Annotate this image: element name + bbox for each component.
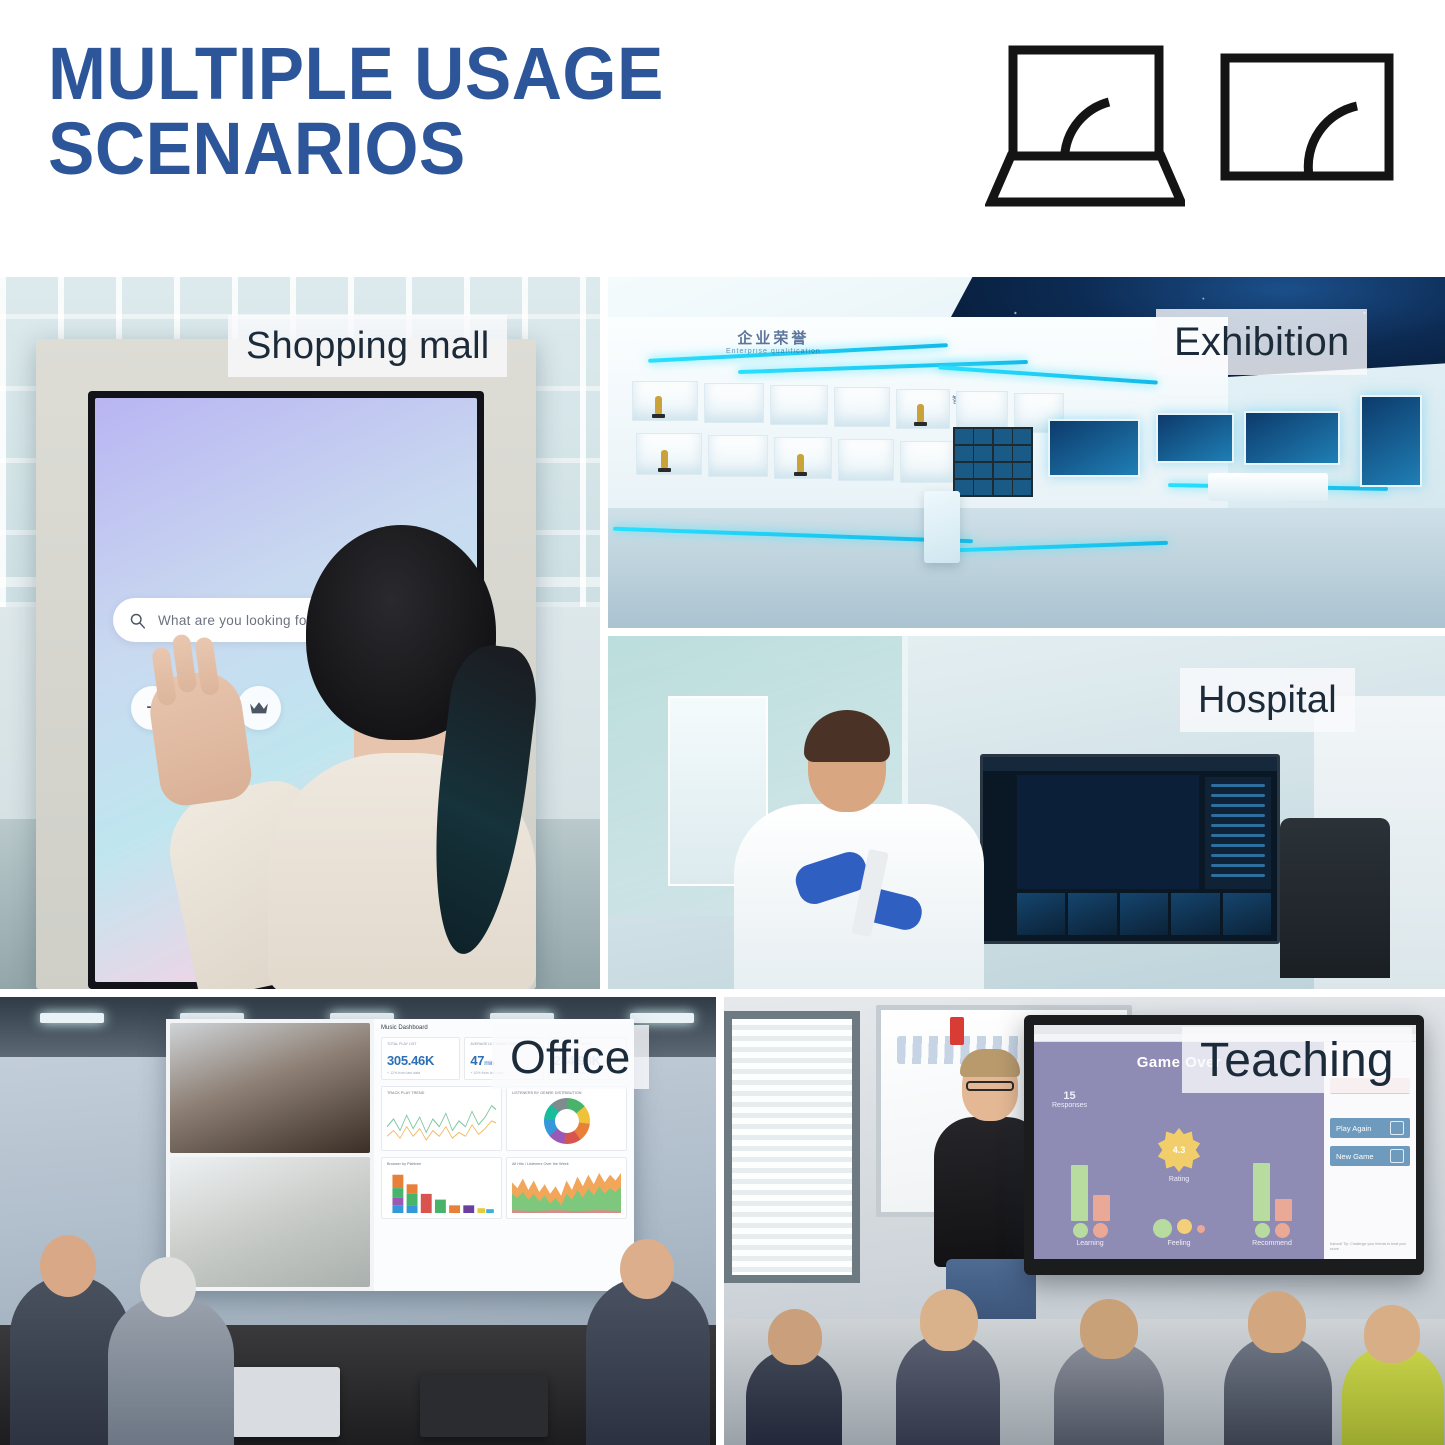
chart-title: Browser by Platform [387,1162,496,1166]
new-game-button[interactable]: New Game [1330,1146,1410,1166]
metric-label: Feeling [1141,1240,1217,1247]
teacher-hair [960,1049,1020,1077]
metric-bars [1052,1163,1128,1221]
magnifier-icon [129,612,146,629]
exhibition-video-wall[interactable] [953,427,1033,497]
laptop-icon [985,42,1185,212]
scenario-panel-shopping-mall[interactable]: What are you looking for? + [0,277,600,989]
display-niche [834,387,890,427]
exhibition-wall-sign: 企业荣誉 Enterprise qualification [726,327,821,355]
chart-title: All Hits / Listeners Over the Week [512,1162,621,1166]
video-tile-presenter[interactable] [170,1023,370,1153]
play-again-label: Play Again [1336,1124,1371,1133]
caption-teaching: Teaching [1182,1027,1412,1093]
smile-icon [1153,1219,1172,1238]
chart-card-bar[interactable]: Browser by Platform [381,1157,502,1219]
chart-card-donut[interactable]: LISTENERS BY GENRE DISTRIBUTION [506,1086,627,1151]
caption-hospital: Hospital [1180,668,1355,732]
video-tile-group[interactable] [170,1157,370,1287]
responses-count: 15 [1052,1090,1087,1102]
teacher-glasses-icon [966,1081,1014,1091]
sidebar-footer-note: Kahoot! Tip: Challenge your friends to b… [1330,1242,1410,1254]
scenario-panel-teaching[interactable]: Game Over 15 Responses 4.3 Rating [724,997,1445,1445]
display-niche [636,433,702,475]
attendee-3-head [620,1239,674,1299]
thumbs-up-icon [1073,1223,1088,1238]
display-niche [704,383,764,423]
header: MULTIPLE USAGE SCENARIOS [0,0,1445,272]
responses-block: 15 Responses [1052,1090,1087,1109]
metric-group-recommend: Recommend [1234,1163,1310,1247]
sad-icon [1197,1225,1205,1233]
line-chart [387,1098,496,1142]
scenario-panel-exhibition[interactable]: 企业荣誉 Enterprise qualification 智慧大厅 [608,277,1445,628]
metric-pills [1052,1223,1128,1238]
attendee-2-head [140,1257,196,1317]
display-niche [774,437,832,479]
caption-shopping-mall: Shopping mall [228,315,507,377]
scenario-grid: What are you looking for? + [0,277,1445,1445]
chart-card-line[interactable]: TRACK PLAY TREND [381,1086,502,1151]
student-2-head [920,1289,978,1351]
chart-row-top: TRACK PLAY TREND LISTENERS BY GENRE DIST… [381,1086,627,1151]
scenario-panel-office[interactable]: Music Dashboard TOTAL PLAY LIST 305.46K … [0,997,716,1445]
stacked-bar-chart [387,1169,496,1213]
student-4-head [1248,1291,1306,1353]
monitor-thumbnail-strip[interactable] [1017,893,1271,935]
chart-row-bottom: Browser by Platform [381,1157,627,1219]
display-niche [708,435,768,477]
responses-label: Responses [1052,1102,1087,1109]
chart-card-area[interactable]: All Hits / Listeners Over the Week [506,1157,627,1219]
metric-pills [1141,1219,1217,1238]
student-1-head [768,1309,822,1365]
refresh-icon [1390,1121,1404,1135]
student-3-head [1080,1299,1138,1359]
video-conference-column [166,1019,374,1291]
display-niche [770,385,828,425]
display-niche [900,441,954,483]
exhibition-wall-screen-1[interactable] [1048,419,1140,477]
display-niche [632,381,698,421]
display-niche [838,439,894,481]
caption-exhibition: Exhibition [1156,309,1367,375]
page-title: MULTIPLE USAGE SCENARIOS [48,36,819,187]
page-title-line-1: MULTIPLE USAGE [48,32,664,115]
rating-value: 4.3 [1173,1145,1186,1155]
chart-title: LISTENERS BY GENRE DISTRIBUTION [512,1091,621,1095]
kpi-label: TOTAL PLAY LIST [387,1042,454,1053]
monitor-titlebar [983,757,1277,771]
new-game-label: New Game [1336,1152,1374,1161]
laptop-right[interactable] [420,1375,548,1437]
microscopy-image [1017,775,1199,889]
scenario-panel-hospital[interactable]: Hospital [608,636,1445,989]
metric-group-feeling: Feeling [1141,1159,1217,1247]
display-niche [896,389,950,429]
exhibition-kiosk[interactable] [924,491,960,563]
caption-office: Office [492,1025,649,1089]
exhibition-table [1208,473,1328,501]
exhibition-wall-screen-3[interactable] [1244,411,1340,465]
attendee-3 [586,1277,710,1445]
exhibition-wall-screen-2[interactable] [1156,413,1234,463]
kpi-card[interactable]: TOTAL PLAY LIST 305.46K + 12% from last … [381,1037,460,1080]
metric-label: Learning [1052,1240,1128,1247]
laptop-center[interactable] [232,1367,340,1437]
header-icon-group [985,42,1405,222]
thumbs-down-icon [1275,1223,1290,1238]
exhibition-floor [608,508,1445,628]
wall-marker [950,1017,964,1045]
page-title-line-2: SCENARIOS [48,111,819,186]
metric-label: Recommend [1234,1240,1310,1247]
shopper-figure [250,525,550,989]
monitor-readout-panel [1205,777,1271,889]
microscope [1280,818,1390,978]
metric-bars [1141,1159,1217,1217]
donut-chart [544,1098,590,1144]
grid-icon [1390,1149,1404,1163]
chart-title: TRACK PLAY TREND [387,1091,496,1095]
metric-bars [1234,1163,1310,1221]
thumbs-up-icon [1255,1223,1270,1238]
kpi-value: 305.46K [387,1053,454,1068]
attendee-1-head [40,1235,96,1297]
attendee-2 [108,1295,234,1445]
display-niche [956,391,1008,431]
kpi-delta: + 12% from last data [387,1071,454,1075]
monitor-icon [1217,50,1397,190]
metric-group-learning: Learning [1052,1163,1128,1247]
exhibition-portrait-kiosk[interactable] [1360,395,1422,487]
stacked-area-chart [512,1169,621,1213]
hospital-monitor[interactable] [980,754,1280,944]
poster-root: MULTIPLE USAGE SCENARIOS [0,0,1445,1445]
neutral-icon [1177,1219,1192,1234]
metric-pills [1234,1223,1310,1238]
play-again-button[interactable]: Play Again [1330,1118,1410,1138]
student-5-head [1364,1305,1420,1363]
thumbs-down-icon [1093,1223,1108,1238]
classroom-window [724,1011,860,1283]
